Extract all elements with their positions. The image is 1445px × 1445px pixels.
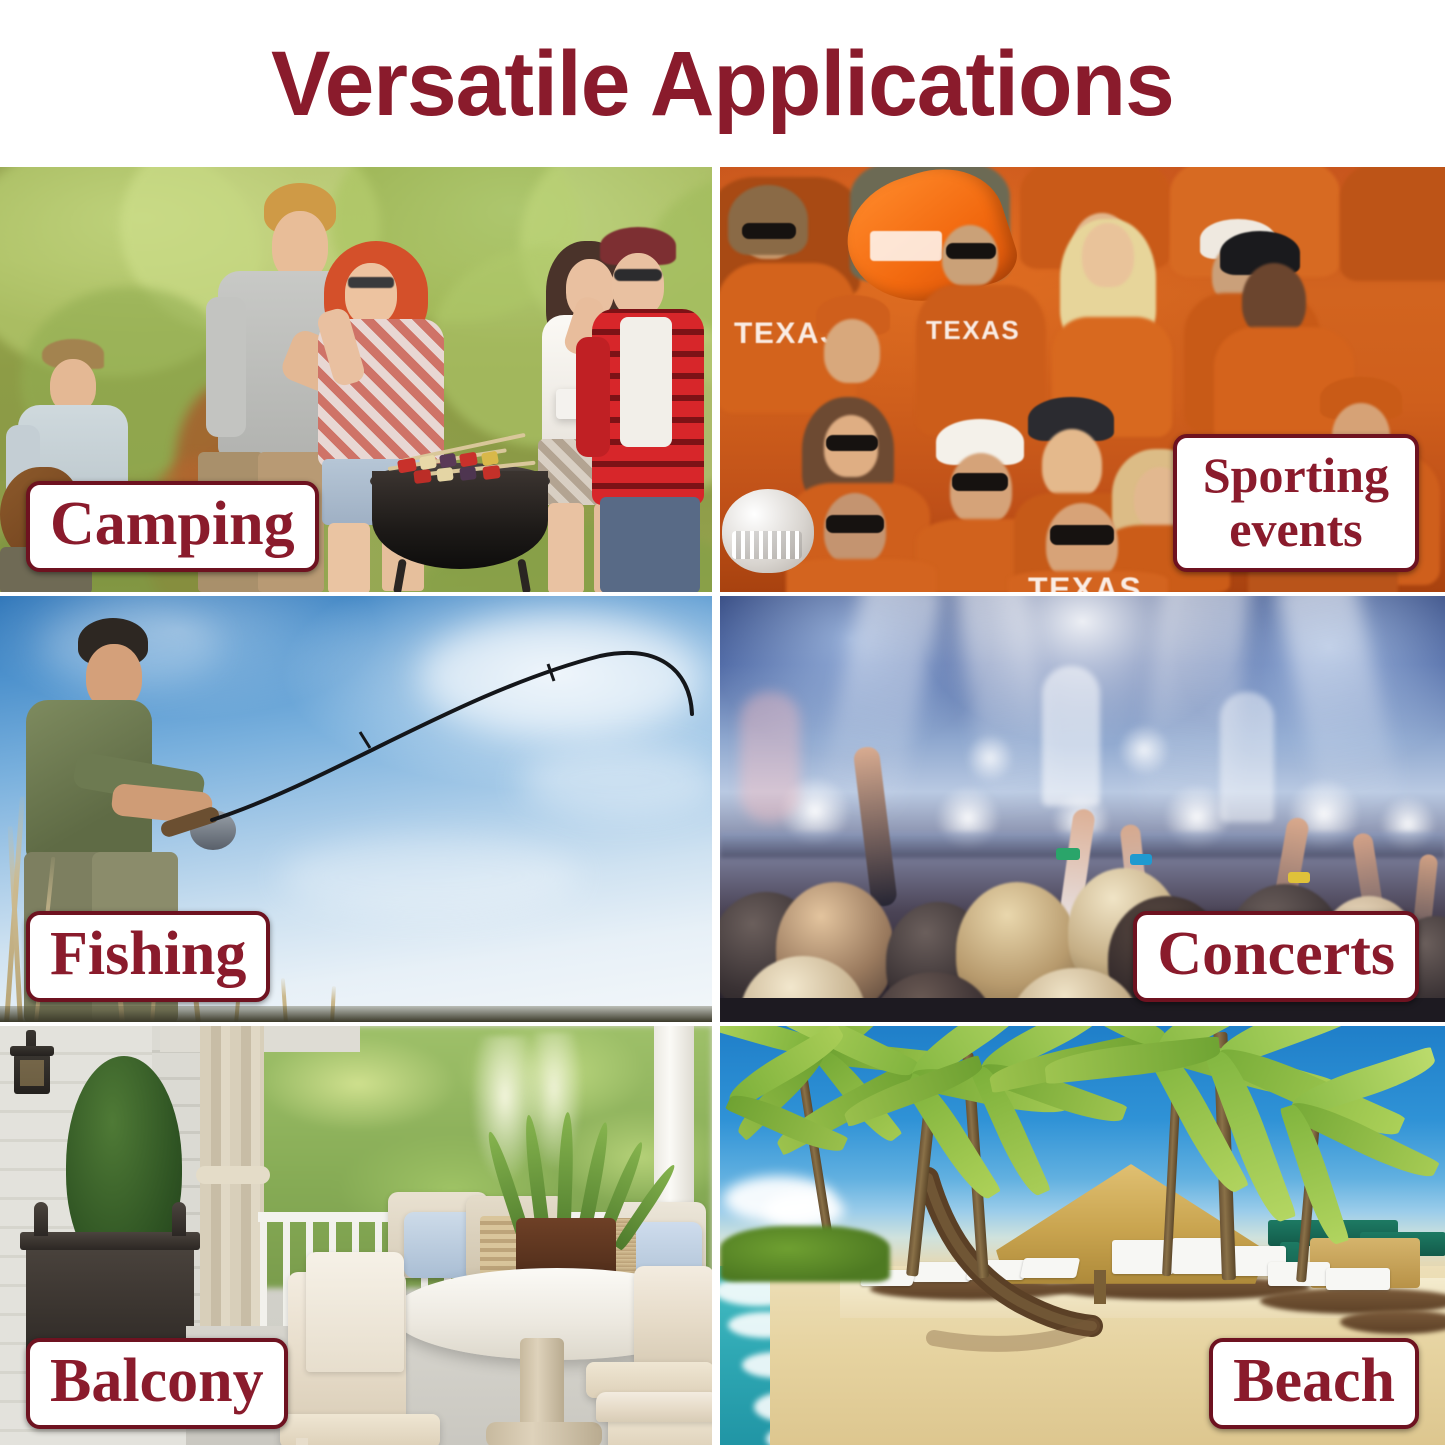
badge-sporting-events[interactable]: Sporting events (1173, 434, 1419, 572)
panel-beach[interactable]: Beach (720, 1026, 1445, 1445)
page-title: Versatile Applications (271, 38, 1174, 130)
badge-camping[interactable]: Camping (26, 481, 319, 572)
curtain (200, 1026, 264, 1356)
badge-concerts[interactable]: Concerts (1133, 911, 1419, 1002)
panel-sporting-events[interactable]: TEXAS TEXAS (720, 167, 1445, 592)
application-grid: Camping TEXAS TEXAS (0, 167, 1445, 1445)
header: Versatile Applications (0, 0, 1445, 167)
versatile-applications-infographic: Versatile Applications (0, 0, 1445, 1445)
badge-fishing[interactable]: Fishing (26, 911, 270, 1002)
panel-fishing[interactable]: Fishing (0, 596, 712, 1022)
panel-concerts[interactable]: Concerts (720, 596, 1445, 1022)
badge-beach[interactable]: Beach (1209, 1338, 1419, 1429)
badge-balcony[interactable]: Balcony (26, 1338, 288, 1429)
panel-camping[interactable]: Camping (0, 167, 712, 592)
panel-balcony[interactable]: Balcony (0, 1026, 712, 1445)
